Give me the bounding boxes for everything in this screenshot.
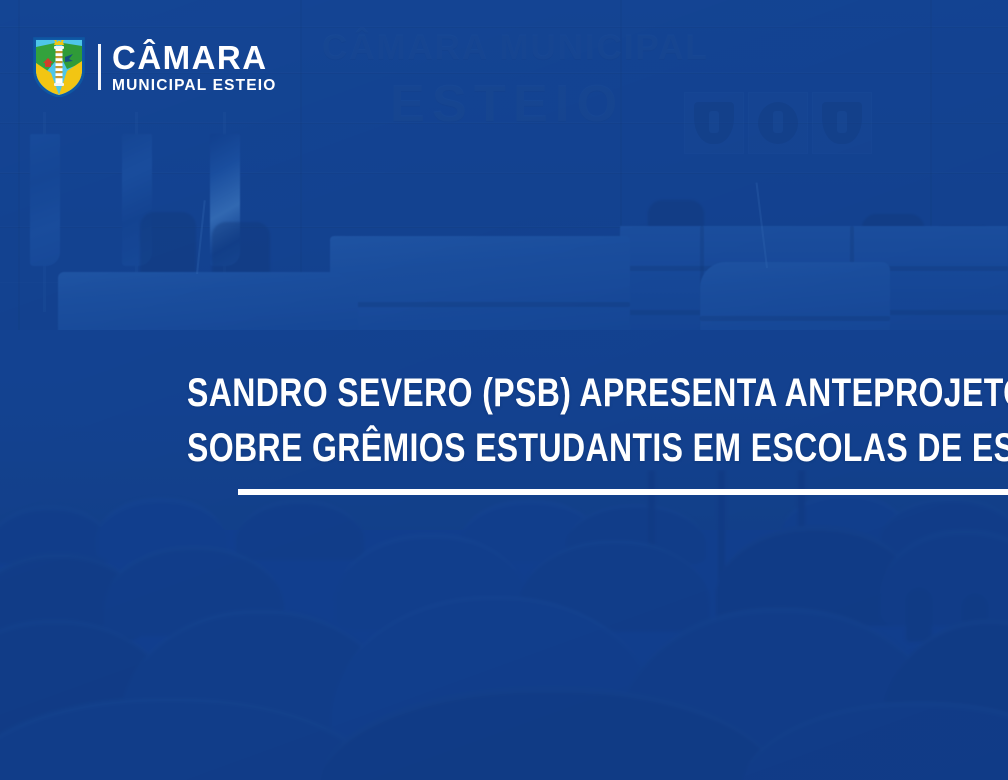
logo-subtitle-municipal-esteio: MUNICIPAL ESTEIO: [112, 78, 276, 94]
headline-line-2: SOBRE GRÊMIOS ESTUDANTIS EM ESCOLAS DE E…: [187, 421, 795, 476]
logo-wordmark: CÂMARA MUNICIPAL ESTEIO: [112, 41, 276, 94]
coat-of-arms-icon: [33, 37, 85, 97]
logo-title-camara: CÂMARA: [112, 41, 276, 74]
headline-line-1: SANDRO SEVERO (PSB) APRESENTA ANTEPROJET…: [187, 366, 795, 421]
logo-divider: [98, 44, 101, 90]
headline-underline-rule: [238, 489, 1008, 495]
news-banner: CÂMARA MUNICIPAL ESTEIO: [0, 0, 1008, 780]
camara-logo[interactable]: CÂMARA MUNICIPAL ESTEIO: [33, 37, 276, 97]
headline: SANDRO SEVERO (PSB) APRESENTA ANTEPROJET…: [187, 366, 947, 476]
